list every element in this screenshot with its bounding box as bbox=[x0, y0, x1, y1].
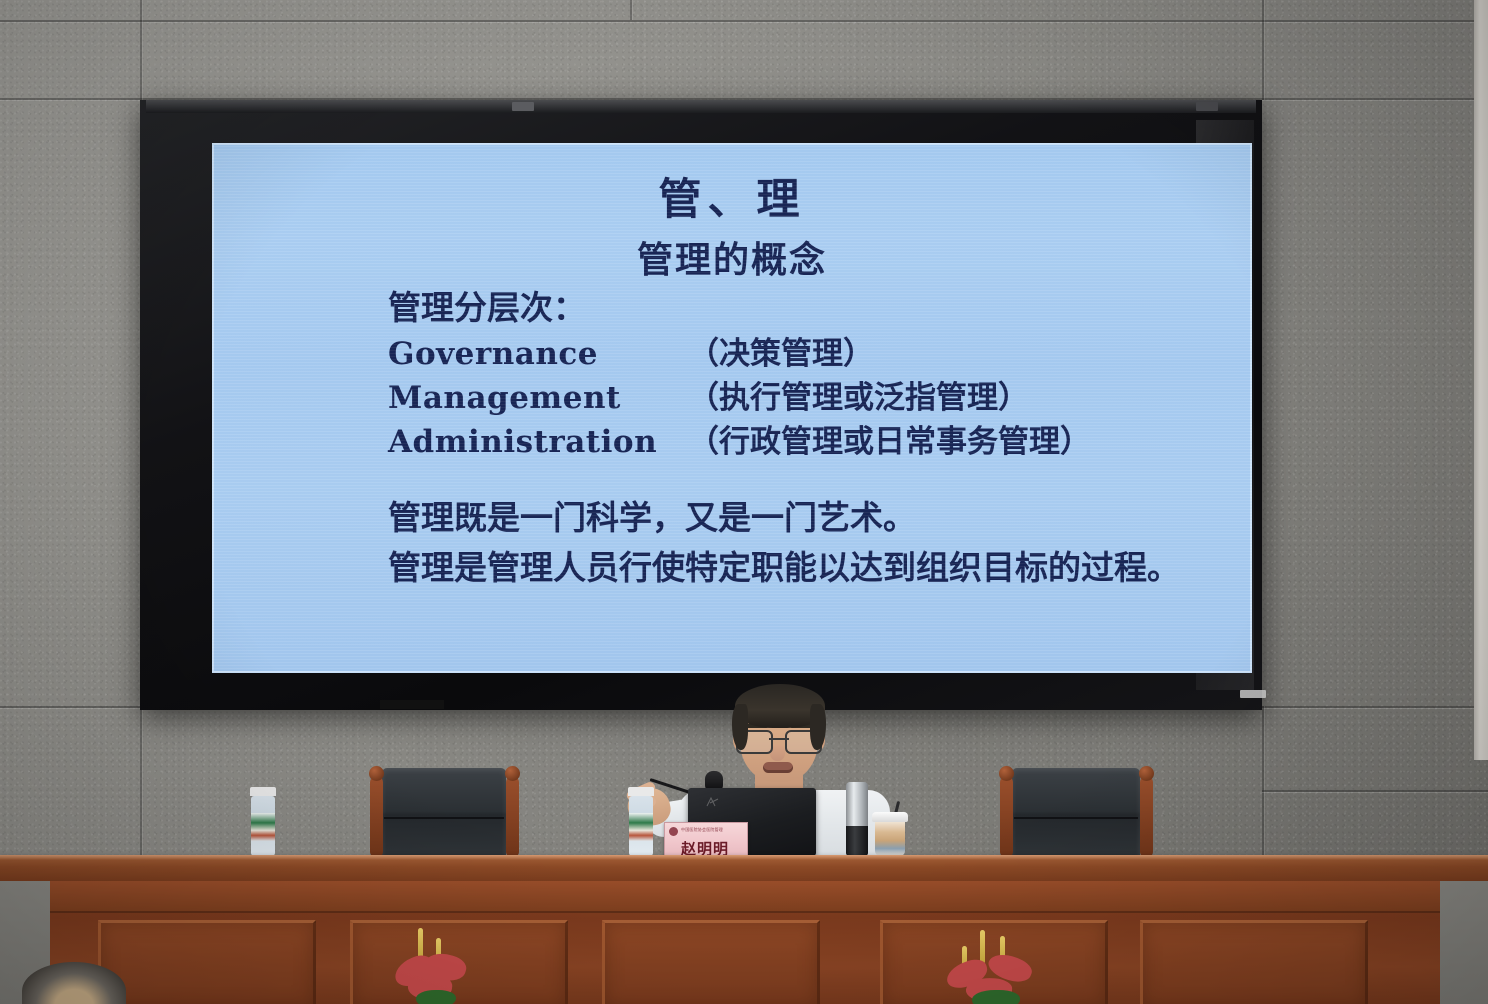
chair-armrest bbox=[370, 776, 383, 858]
bottle-cap bbox=[628, 787, 654, 796]
podium-panel bbox=[1140, 920, 1368, 1004]
chair-knob bbox=[1139, 766, 1154, 781]
display-top-trim bbox=[146, 100, 1256, 113]
coffee-cup bbox=[874, 812, 906, 856]
chair-armrest bbox=[506, 776, 519, 858]
flower-spadix bbox=[980, 930, 985, 964]
flower-arrangement bbox=[388, 928, 478, 1004]
chair-knob bbox=[999, 766, 1014, 781]
water-bottle bbox=[628, 787, 654, 857]
speaker-hair-side bbox=[732, 704, 748, 750]
presentation-slide: 管、理 管理的概念 管理分层次： Governance （决策管理） Manag… bbox=[212, 143, 1252, 673]
wall-seam bbox=[140, 0, 142, 100]
chair-backrest bbox=[1012, 768, 1140, 858]
flower-arrangement bbox=[942, 930, 1052, 1004]
cup-lid bbox=[872, 812, 908, 822]
chair-armrest bbox=[1000, 776, 1013, 858]
wall-seam bbox=[140, 706, 142, 866]
bottle-label bbox=[251, 813, 275, 841]
ir-sensor-icon bbox=[512, 102, 534, 111]
chair-seam bbox=[1014, 817, 1138, 819]
chair-armrest bbox=[1140, 776, 1153, 858]
right-chair bbox=[996, 762, 1156, 858]
flower-leaf bbox=[972, 990, 1020, 1004]
speaker-mouth bbox=[763, 762, 793, 773]
screen-scanlines bbox=[212, 143, 1252, 673]
wall-seam bbox=[1262, 0, 1264, 100]
wall-seam bbox=[630, 0, 632, 20]
wall-seam bbox=[1262, 706, 1264, 866]
thermos bbox=[846, 782, 868, 856]
nameplate-logo-icon bbox=[669, 827, 678, 836]
display-brand-badge bbox=[1240, 690, 1266, 698]
podium-panel bbox=[98, 920, 316, 1004]
bottle-cap bbox=[250, 787, 276, 796]
flower-leaf bbox=[416, 990, 456, 1004]
thermos-base bbox=[846, 826, 868, 856]
wall-seam bbox=[1262, 790, 1488, 792]
cup-body bbox=[875, 822, 905, 856]
wall-below-right bbox=[1440, 881, 1488, 1004]
podium-rail bbox=[50, 881, 1440, 913]
laptop-logo-icon bbox=[706, 797, 720, 808]
chair-knob bbox=[369, 766, 384, 781]
nameplate-org: 中国医院协会医院管理 bbox=[681, 827, 723, 833]
podium-panel bbox=[602, 920, 820, 1004]
water-bottle bbox=[250, 787, 276, 857]
chair-seam bbox=[384, 817, 504, 819]
lecture-hall-photo: 管、理 管理的概念 管理分层次： Governance （决策管理） Manag… bbox=[0, 0, 1488, 1004]
wall-seam bbox=[0, 20, 1488, 22]
desk-surface-highlight bbox=[0, 855, 1488, 860]
bottle-label bbox=[629, 813, 653, 841]
ir-sensor-icon bbox=[1196, 102, 1218, 111]
left-chair bbox=[366, 762, 522, 858]
wall-edge-strip bbox=[1474, 0, 1488, 760]
thermos-body bbox=[846, 782, 868, 826]
display-mount bbox=[380, 700, 444, 709]
eyeglass-bridge bbox=[769, 738, 789, 740]
chair-knob bbox=[505, 766, 520, 781]
chair-backrest bbox=[382, 768, 506, 858]
